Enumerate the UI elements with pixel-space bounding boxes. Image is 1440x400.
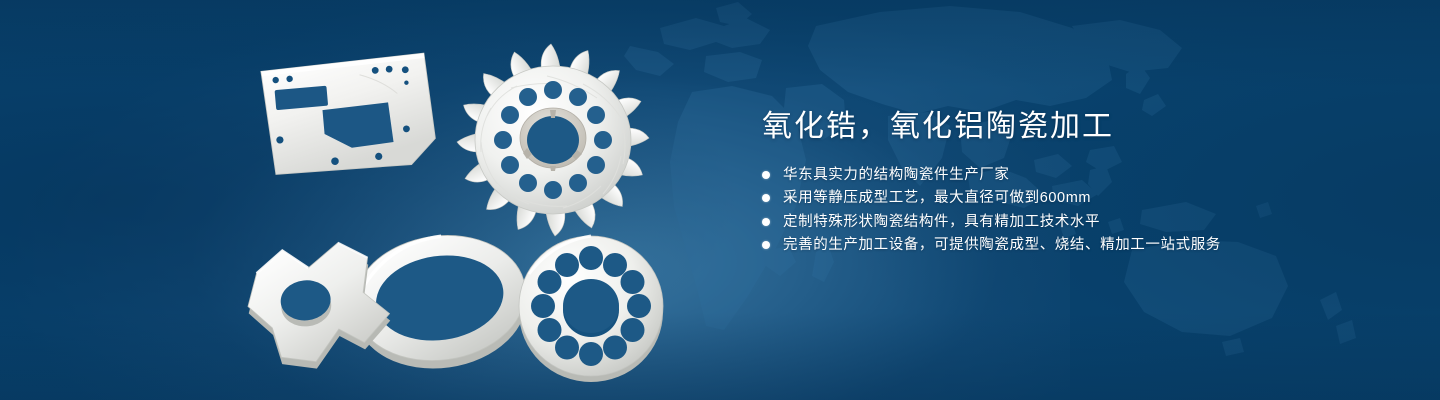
bullet-dot-icon <box>762 241 770 249</box>
list-item: 定制特殊形状陶瓷结构件，具有精加工技术水平 <box>762 215 1382 230</box>
list-item: 采用等静压成型工艺，最大直径可做到600mm <box>762 191 1382 206</box>
ceramic-perforated-disc-part <box>513 230 669 382</box>
banner-copy: 氧化锆，氧化铝陶瓷加工 华东具实力的结构陶瓷件生产厂家 采用等静压成型工艺，最大… <box>762 108 1382 253</box>
page-title: 氧化锆，氧化铝陶瓷加工 <box>762 108 1382 146</box>
bullet-dot-icon <box>762 194 770 202</box>
feature-text: 完善的生产加工设备，可提供陶瓷成型、烧结、精加工一站式服务 <box>783 238 1221 253</box>
feature-text: 采用等静压成型工艺，最大直径可做到600mm <box>783 191 1091 206</box>
ceramic-impeller-part <box>451 40 655 240</box>
list-item: 完善的生产加工设备，可提供陶瓷成型、烧结、精加工一站式服务 <box>762 238 1382 253</box>
feature-text: 华东具实力的结构陶瓷件生产厂家 <box>783 168 1010 183</box>
ceramic-cross-part <box>241 236 421 386</box>
ceramic-plate-part <box>257 58 437 173</box>
bullet-dot-icon <box>762 171 770 179</box>
promo-banner: 氧化锆，氧化铝陶瓷加工 华东具实力的结构陶瓷件生产厂家 采用等静压成型工艺，最大… <box>0 0 1440 400</box>
bullet-dot-icon <box>762 218 770 226</box>
product-photo-cluster <box>235 40 715 385</box>
feature-list: 华东具实力的结构陶瓷件生产厂家 采用等静压成型工艺，最大直径可做到600mm 定… <box>762 168 1382 253</box>
feature-text: 定制特殊形状陶瓷结构件，具有精加工技术水平 <box>783 215 1100 230</box>
list-item: 华东具实力的结构陶瓷件生产厂家 <box>762 168 1382 183</box>
